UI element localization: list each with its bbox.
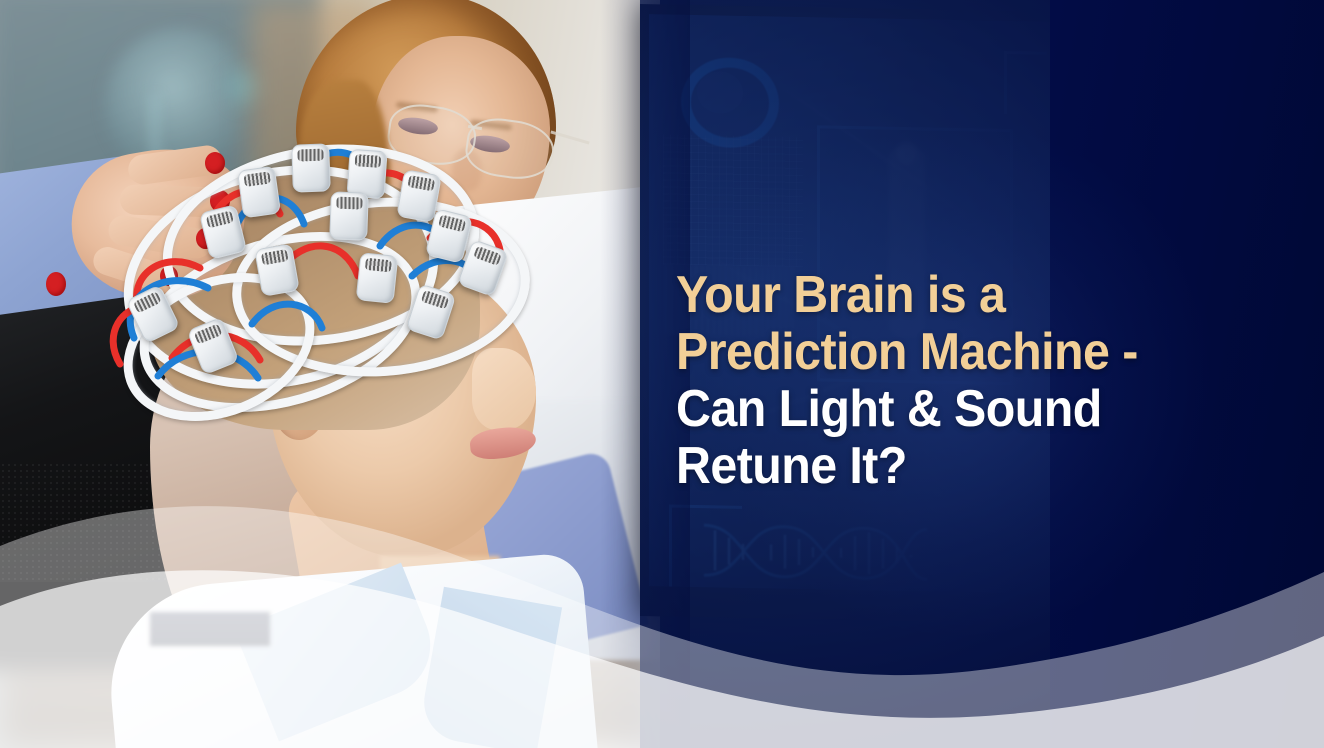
headline-line-1: Your Brain is a bbox=[676, 267, 1234, 324]
fingernail-5 bbox=[46, 272, 66, 296]
headline-line-3: Can Light & Sound bbox=[676, 381, 1234, 438]
patient-collar-right bbox=[418, 587, 562, 748]
eeg-electrode-11 bbox=[356, 252, 399, 304]
eeg-session-photo bbox=[0, 0, 660, 748]
page-title: Your Brain is a Prediction Machine - Can… bbox=[676, 267, 1234, 495]
eeg-electrode-10 bbox=[254, 243, 300, 297]
eeg-electrode-4 bbox=[291, 143, 331, 192]
headline-line-4: Retune It? bbox=[676, 438, 1234, 495]
chair-mesh-texture bbox=[0, 462, 170, 582]
eeg-electrode-cap bbox=[112, 128, 532, 418]
eeg-electrode-3 bbox=[237, 166, 281, 219]
headline-line-2: Prediction Machine - bbox=[676, 324, 1234, 381]
monitor-stand bbox=[150, 612, 270, 646]
eeg-wire-blue-7 bbox=[252, 304, 322, 328]
blog-hero-banner: Your Brain is a Prediction Machine - Can… bbox=[0, 0, 1324, 748]
eeg-electrode-6 bbox=[329, 191, 369, 240]
